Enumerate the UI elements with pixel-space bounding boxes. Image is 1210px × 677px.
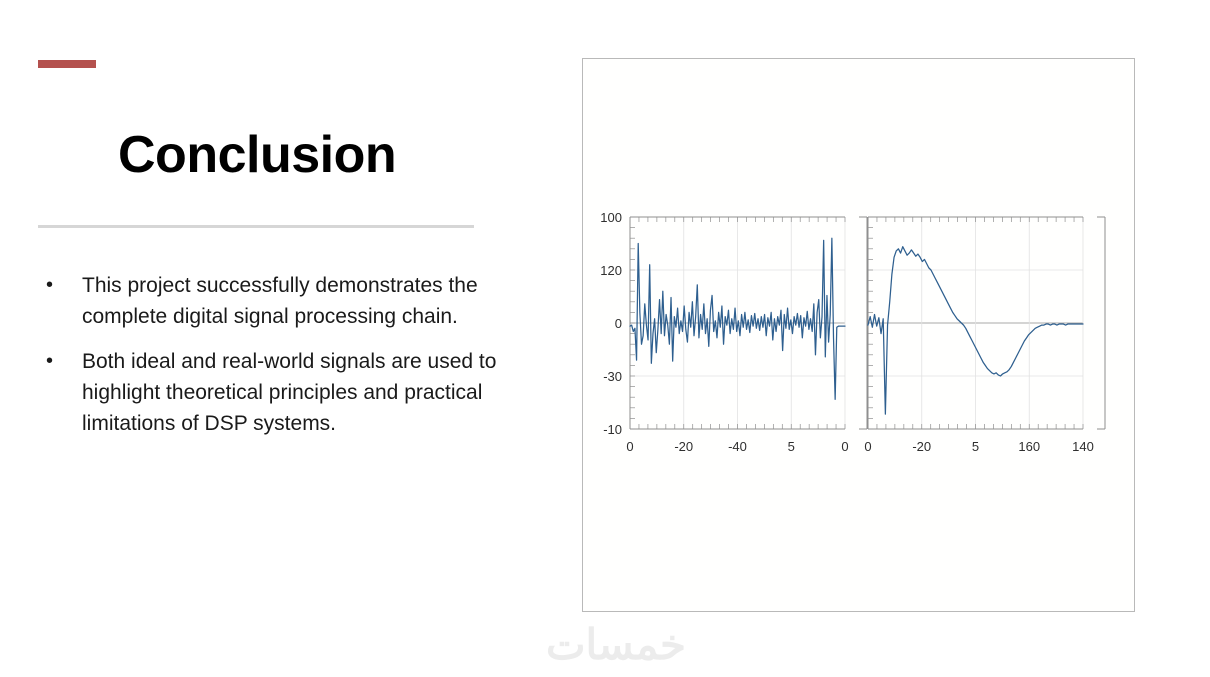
plot-left: 1001200-30-100-20-4050 (600, 210, 867, 454)
page-title: Conclusion (118, 128, 396, 183)
x-tick-label: 5 (788, 439, 795, 454)
y-tick-label: 100 (600, 210, 622, 225)
bullet-marker: • (46, 346, 53, 377)
x-tick-label: -20 (912, 439, 931, 454)
y-tick-label: -30 (603, 369, 622, 384)
y-tick-label: 120 (600, 263, 622, 278)
figure-frame: 1001200-30-100-20-40500-205160140 (582, 58, 1135, 612)
y-tick-label: -10 (603, 422, 622, 437)
y-tick-label: 0 (615, 316, 622, 331)
axis-spine-right (859, 217, 867, 429)
list-item: • This project successfully demonstrates… (40, 270, 500, 332)
list-item: • Both ideal and real-world signals are … (40, 346, 500, 439)
x-tick-label: 0 (626, 439, 633, 454)
axis-spine-right (1097, 217, 1105, 429)
slide-root: Conclusion • This project successfully d… (0, 0, 1210, 677)
plot-right: 0-205160140 (864, 217, 1105, 454)
accent-bar (38, 60, 96, 68)
x-tick-label: 0 (864, 439, 871, 454)
x-tick-label: 0 (841, 439, 848, 454)
x-tick-label: -20 (674, 439, 693, 454)
figure-plot-area: 1001200-30-100-20-40500-205160140 (583, 199, 1136, 469)
title-divider (38, 225, 474, 228)
x-tick-label: 140 (1072, 439, 1094, 454)
watermark: خمسات (526, 620, 706, 669)
x-tick-label: 5 (972, 439, 979, 454)
x-tick-label: 160 (1018, 439, 1040, 454)
signal-plots-svg: 1001200-30-100-20-40500-205160140 (583, 199, 1136, 469)
x-tick-label: -40 (728, 439, 747, 454)
list-item-text: This project successfully demonstrates t… (82, 274, 478, 328)
bullet-list: • This project successfully demonstrates… (40, 270, 500, 453)
bullet-marker: • (46, 270, 53, 301)
list-item-text: Both ideal and real-world signals are us… (82, 350, 496, 435)
